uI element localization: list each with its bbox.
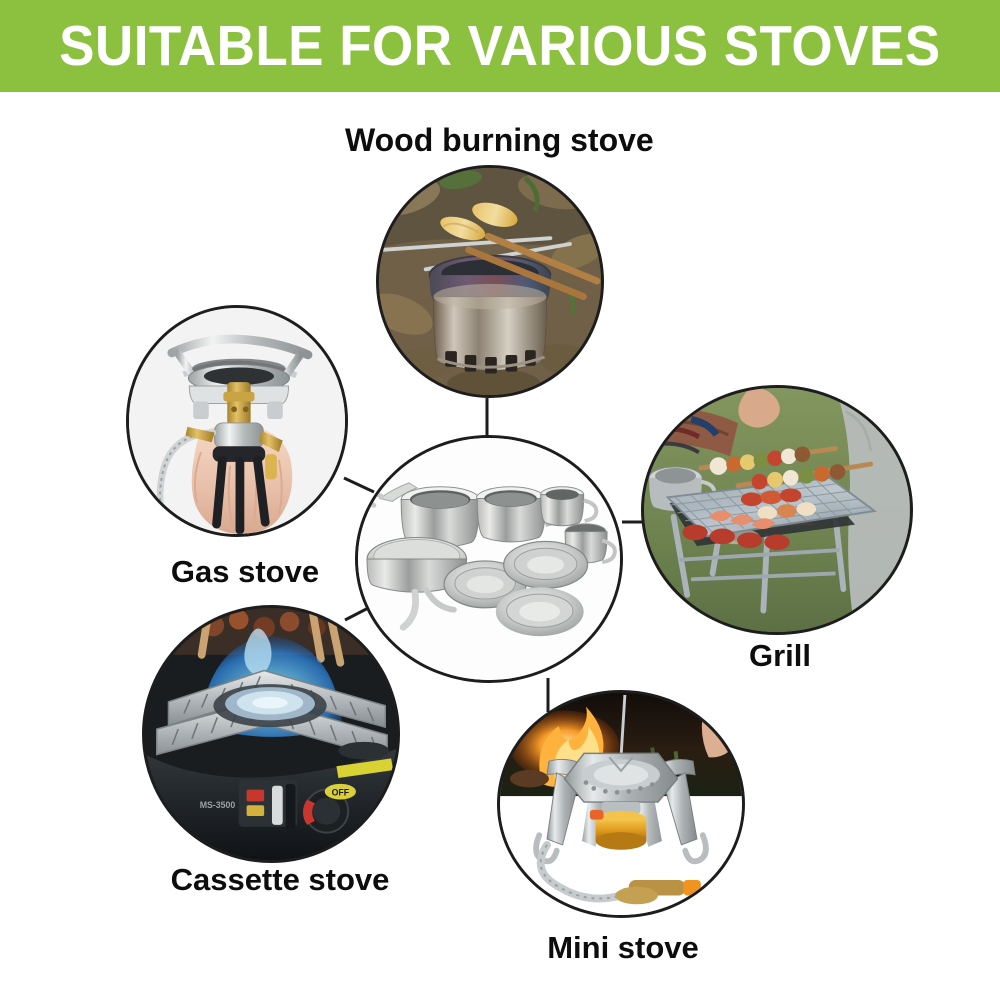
gas-stove-label: Gas stove <box>145 556 345 587</box>
grill-circle[interactable] <box>641 385 913 635</box>
mini-stove-circle[interactable] <box>497 690 745 918</box>
mini-stove-photo <box>500 693 742 915</box>
svg-text:OFF: OFF <box>332 788 350 798</box>
wood-burning-stove-circle[interactable] <box>376 165 604 398</box>
wood-burning-stove-photo <box>379 168 601 395</box>
infographic-page: SUITABLE FOR VARIOUS STOVES <box>0 0 1000 1000</box>
cookware-photo <box>358 438 620 680</box>
mini-stove-label: Mini stove <box>518 932 728 963</box>
grill-photo <box>644 388 910 632</box>
gas-stove-circle[interactable] <box>126 305 348 537</box>
cassette-stove-label: Cassette stove <box>160 864 400 895</box>
wood-burning-stove-label: Wood burning stove <box>345 124 645 156</box>
cassette-stove-circle[interactable]: OFF MS-3500 <box>142 605 400 863</box>
stove-compatibility-diagram: Wood burning stove <box>0 0 1000 1000</box>
cassette-stove-photo: OFF MS-3500 <box>145 608 397 860</box>
gas-stove-photo <box>129 308 345 534</box>
grill-label: Grill <box>700 640 860 671</box>
svg-text:MS-3500: MS-3500 <box>200 800 236 810</box>
